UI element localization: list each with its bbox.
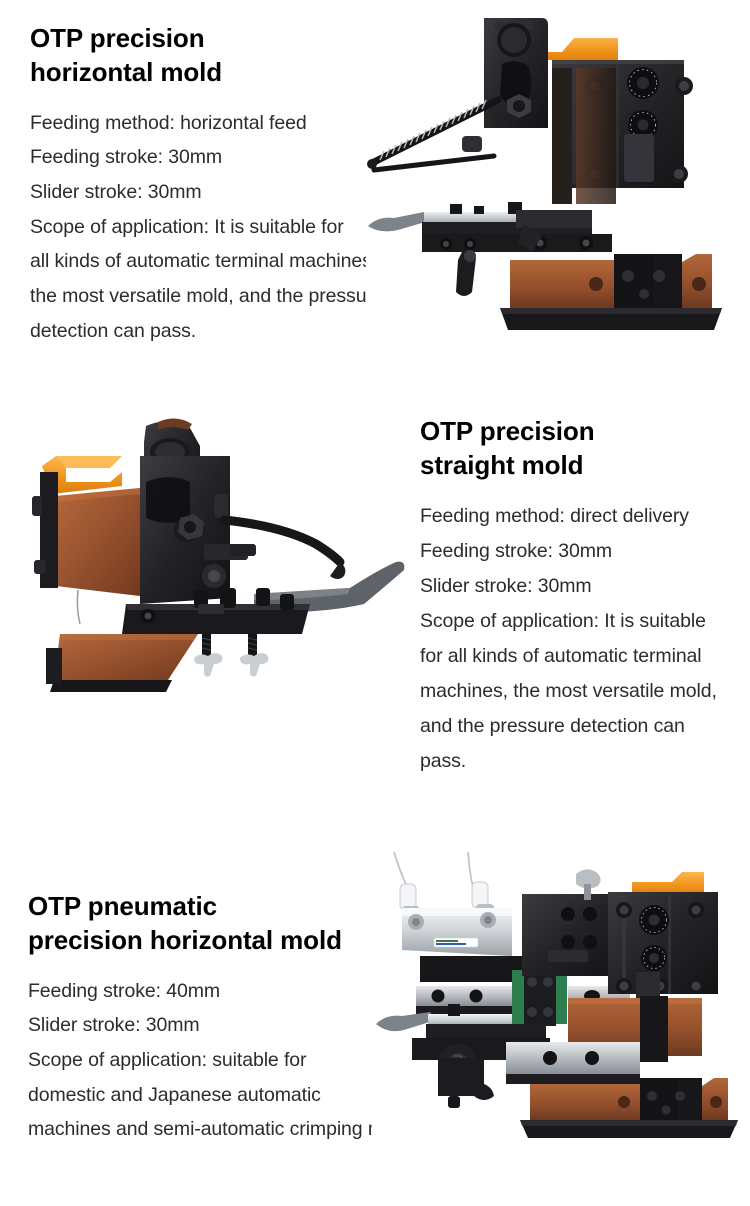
spec-line: and the pressure detection can bbox=[420, 709, 740, 744]
spec-list: Feeding method: horizontal feed Feeding … bbox=[30, 106, 400, 349]
otp-precision-horizontal-mold-photo bbox=[366, 8, 750, 348]
product-spec-page: OTP precision horizontal mold Feeding me… bbox=[0, 0, 750, 1206]
spec-line: detection can pass. bbox=[30, 314, 400, 349]
spec-line: the most versatile mold, and the pressur… bbox=[30, 279, 400, 314]
cylinder-label bbox=[434, 938, 478, 947]
spec-line: Feeding method: horizontal feed bbox=[30, 106, 400, 141]
spec-list: Feeding method: direct delivery Feeding … bbox=[420, 499, 740, 780]
spec-line: machines, the most versatile mold, bbox=[420, 674, 740, 709]
product-image-straight-mold bbox=[18, 408, 414, 708]
linear-rail-left bbox=[416, 986, 522, 1018]
dial-knob-upper bbox=[639, 905, 669, 935]
lower-rail bbox=[506, 1042, 640, 1084]
page-title: OTP precision horizontal mold bbox=[30, 22, 400, 90]
copper-base-block bbox=[510, 254, 712, 308]
spec-line: Feeding stroke: 30mm bbox=[420, 534, 740, 569]
spec-line: all kinds of automatic terminal machines… bbox=[30, 244, 400, 279]
spec-text-column: OTP precision horizontal mold Feeding me… bbox=[30, 22, 400, 349]
product-image-pneumatic-mold bbox=[372, 846, 750, 1146]
otp-pneumatic-precision-horizontal-mold-photo bbox=[372, 846, 750, 1146]
copper-face-plate bbox=[56, 488, 140, 596]
spec-line: Feeding method: direct delivery bbox=[420, 499, 740, 534]
spec-line: pass. bbox=[420, 744, 740, 779]
spec-text-column: OTP precision straight mold Feeding meth… bbox=[420, 415, 740, 779]
spec-line: Slider stroke: 30mm bbox=[30, 175, 400, 210]
page-title: OTP precision straight mold bbox=[420, 415, 740, 483]
spec-line: Feeding stroke: 30mm bbox=[30, 140, 400, 175]
dial-knob-lower bbox=[641, 945, 667, 971]
dial-knob-upper bbox=[627, 67, 659, 99]
spec-line: Scope of application: It is suitable bbox=[420, 604, 740, 639]
spec-line: for all kinds of automatic terminal bbox=[420, 639, 740, 674]
spec-line: Scope of application: It is suitable for bbox=[30, 210, 400, 245]
copper-base-block bbox=[530, 1078, 728, 1120]
spec-line: Slider stroke: 30mm bbox=[420, 569, 740, 604]
pneumatic-cylinder bbox=[402, 908, 512, 956]
otp-precision-straight-mold-photo bbox=[18, 408, 414, 708]
product-image-horizontal-mold bbox=[366, 8, 750, 348]
